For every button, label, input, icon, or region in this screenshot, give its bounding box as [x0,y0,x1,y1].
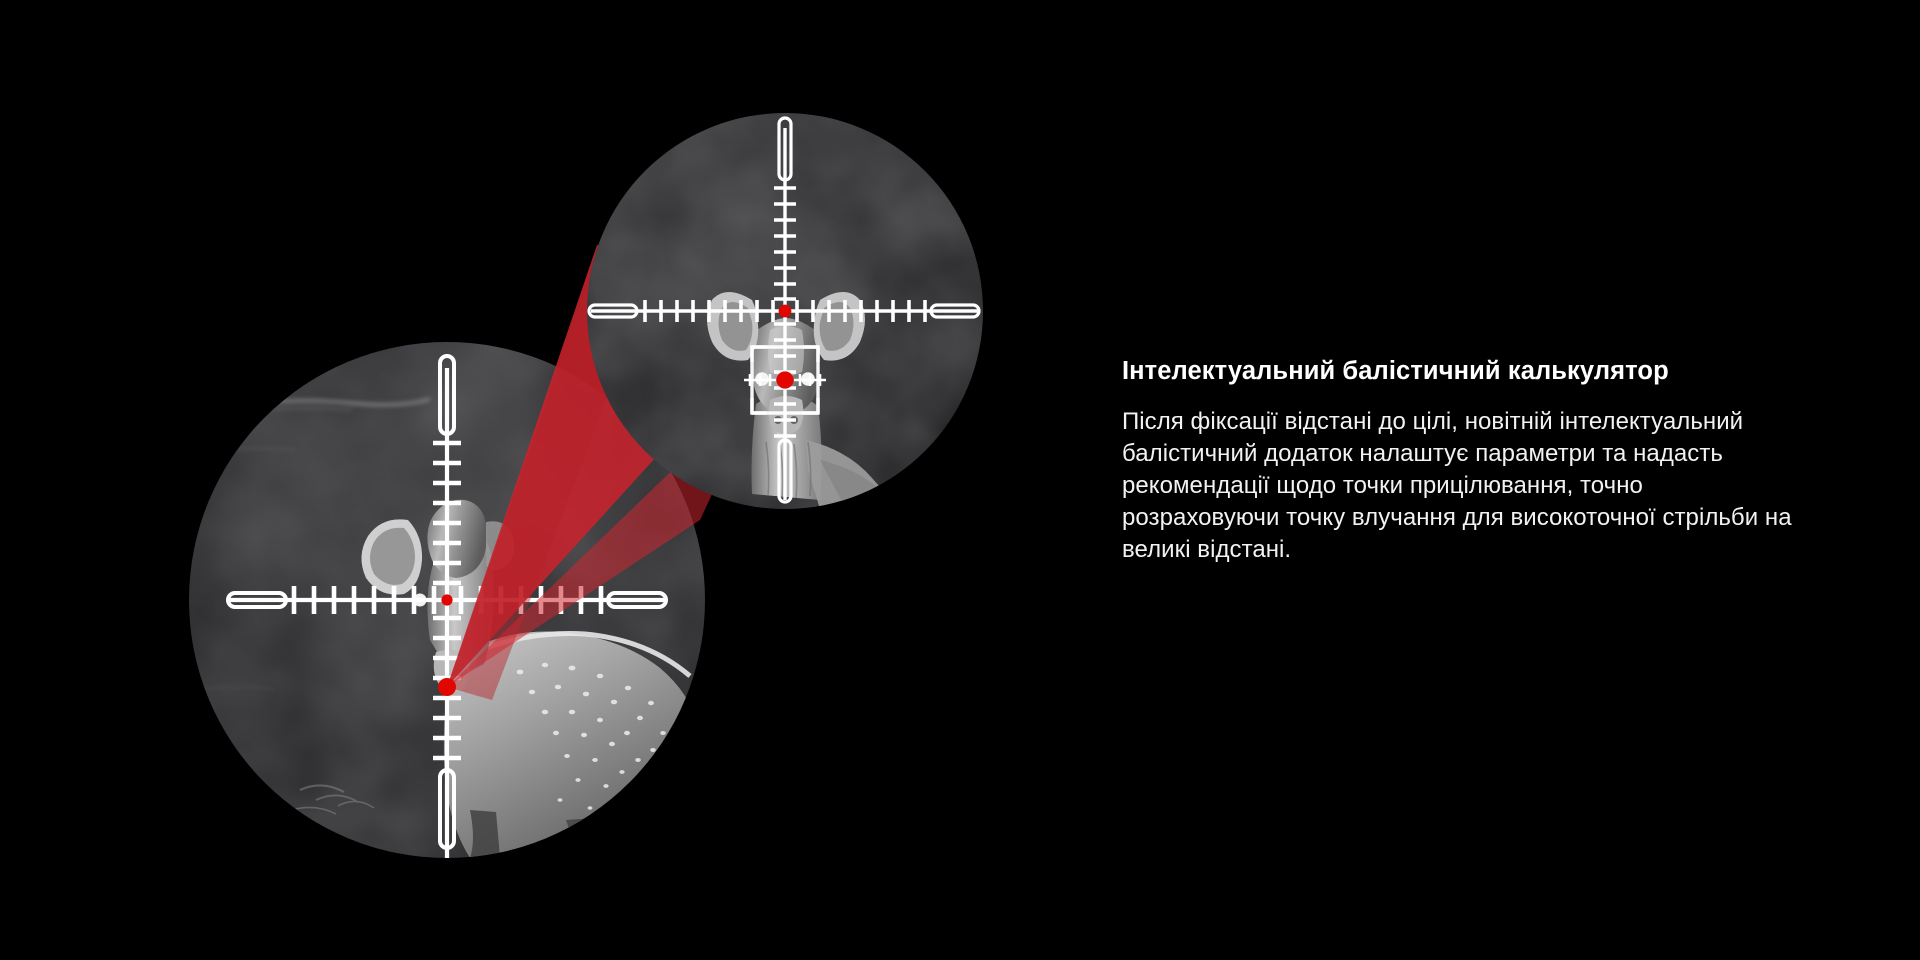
reticle-center-dot-bottom [441,594,452,605]
magnified-scope-view [587,113,983,509]
slide-root: Інтелектуальний балістичний калькулятор … [0,0,1920,960]
feature-body-text: Після фіксації відстані до цілі, новітні… [1122,406,1802,566]
reticle-center-dot-top [779,305,792,318]
illustration-svg [0,0,1100,960]
page-title: Інтелектуальний балістичний калькулятор [1122,356,1822,388]
scope-top-contents [587,113,983,509]
target-lock-dot [776,371,793,388]
thermal-scope-ballistic-illustration [0,0,1100,960]
feature-description-block: Інтелектуальний балістичний калькулятор … [1122,356,1822,566]
aim-point-dot [438,678,456,696]
